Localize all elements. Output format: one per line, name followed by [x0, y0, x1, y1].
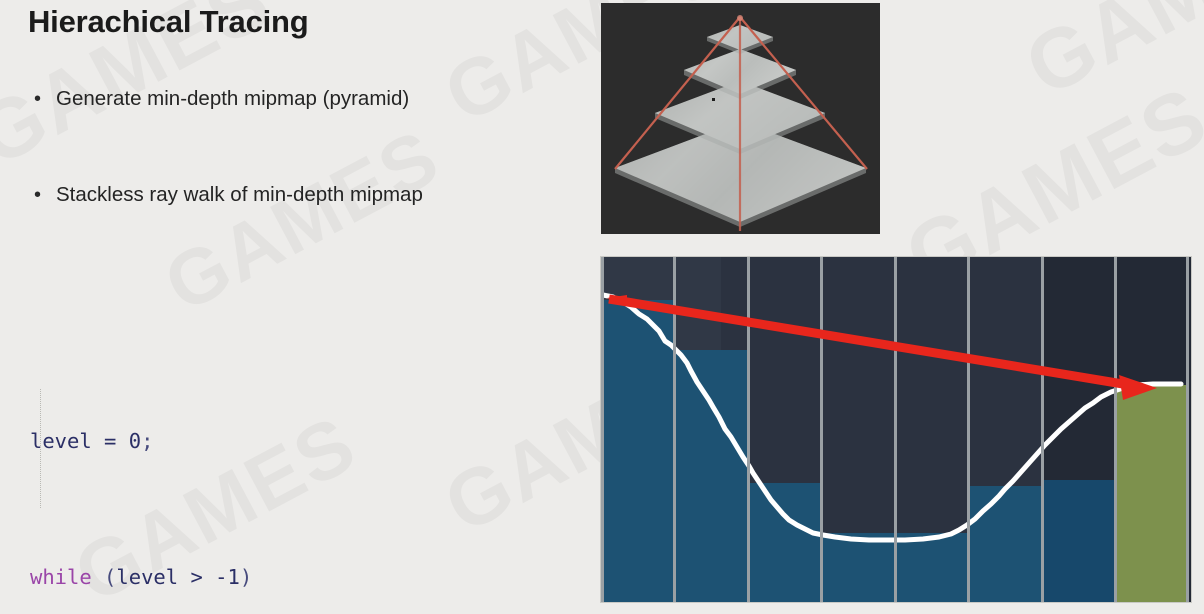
slide-canvas: GAMES GAMES GAMES GAMES GAMES GAMES GAME…: [0, 0, 1204, 614]
hiz-cell-fill: [748, 483, 822, 602]
hiz-divider: [820, 257, 823, 602]
hiz-divider: [601, 257, 604, 602]
hiz-divider: [1041, 257, 1044, 602]
mipmap-texel-marker: [712, 98, 715, 101]
watermark: GAMES: [1010, 0, 1204, 116]
bullet-text: Generate min-depth mipmap (pyramid): [56, 86, 409, 112]
code-token-keyword: while: [30, 565, 92, 589]
hiz-cell-fill: [1042, 480, 1116, 602]
hiz-cell-fill-hit: [1116, 385, 1189, 602]
hiz-ray-walk-svg: [601, 257, 1191, 602]
code-token-number: -1: [215, 565, 240, 589]
hiz-ray-walk-figure: [601, 257, 1191, 602]
code-token-identifier: level: [116, 565, 178, 589]
code-block: level = 0; while (level > -1) { stepCurr…: [30, 288, 423, 614]
code-token-operator: >: [178, 565, 215, 589]
code-line: while (level > -1): [30, 560, 423, 594]
code-token-paren: ): [240, 565, 252, 589]
code-token-paren: (: [92, 565, 117, 589]
mipmap-pyramid-figure: [601, 3, 880, 234]
hiz-cell-fill: [822, 533, 895, 602]
hiz-divider: [747, 257, 750, 602]
page-title: Hierachical Tracing: [28, 4, 309, 40]
code-line: level = 0;: [30, 424, 423, 458]
bullet-item: • Generate min-depth mipmap (pyramid): [30, 86, 590, 112]
bullet-marker-icon: •: [30, 182, 56, 208]
pyramid-apex-marker: [737, 15, 743, 21]
hiz-divider: [894, 257, 897, 602]
code-token-semicolon: ;: [141, 429, 153, 453]
indent-guide: [40, 389, 41, 508]
hiz-divider: [1114, 257, 1117, 602]
bullet-marker-icon: •: [30, 86, 56, 112]
hiz-cell-fill: [601, 300, 675, 602]
hiz-cell-fill: [895, 533, 969, 602]
code-token-operator: =: [92, 429, 129, 453]
bullet-text: Stackless ray walk of min-depth mipmap: [56, 182, 423, 208]
hiz-cell-fill: [969, 486, 1042, 602]
hiz-cell-fill: [675, 350, 748, 602]
bullet-item: • Stackless ray walk of min-depth mipmap: [30, 182, 590, 208]
code-token-number: 0: [129, 429, 141, 453]
hiz-divider: [967, 257, 970, 602]
mipmap-pyramid-svg: [601, 3, 880, 234]
hiz-divider: [1186, 257, 1189, 602]
